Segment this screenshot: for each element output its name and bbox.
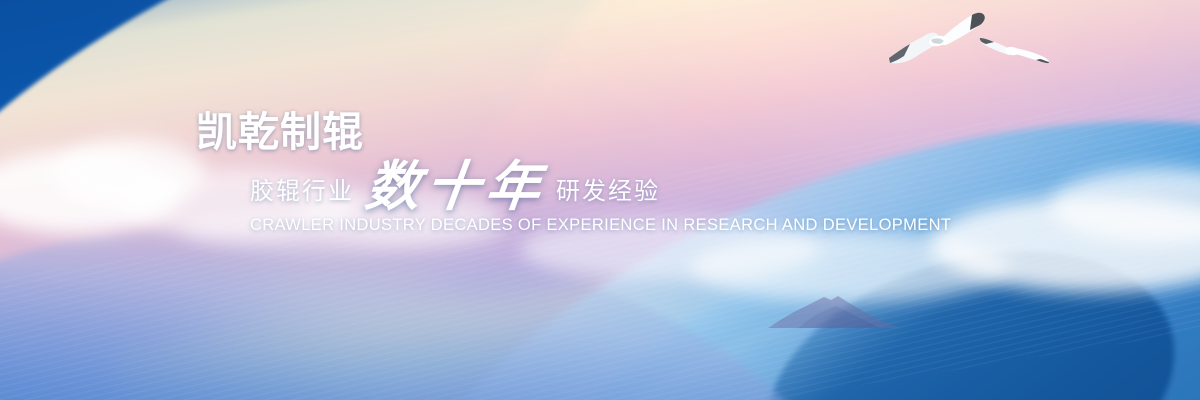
subtitle-rnd-experience: 研发经验 [556,171,660,206]
seagull-icon [884,6,988,68]
english-tagline: CRAWLER INDUSTRY DECADES OF EXPERIENCE I… [250,216,876,235]
hero-banner: 凯乾制辊 胶辊行业 数十年 研发经验 CRAWLER INDUSTRY DECA… [0,0,1200,400]
subtitle-calligraphy-decades: 数十年 [363,164,549,210]
page-title: 凯乾制辊 [196,112,364,153]
seagull-icon [976,22,1052,68]
mountain-silhouette-icon [768,288,900,328]
banner-copy: 凯乾制辊 胶辊行业 数十年 研发经验 CRAWLER INDUSTRY DECA… [196,112,876,235]
subtitle-row: 胶辊行业 数十年 研发经验 [250,158,876,206]
subtitle-industry: 胶辊行业 [250,171,354,206]
headline-row: 凯乾制辊 [196,112,876,153]
